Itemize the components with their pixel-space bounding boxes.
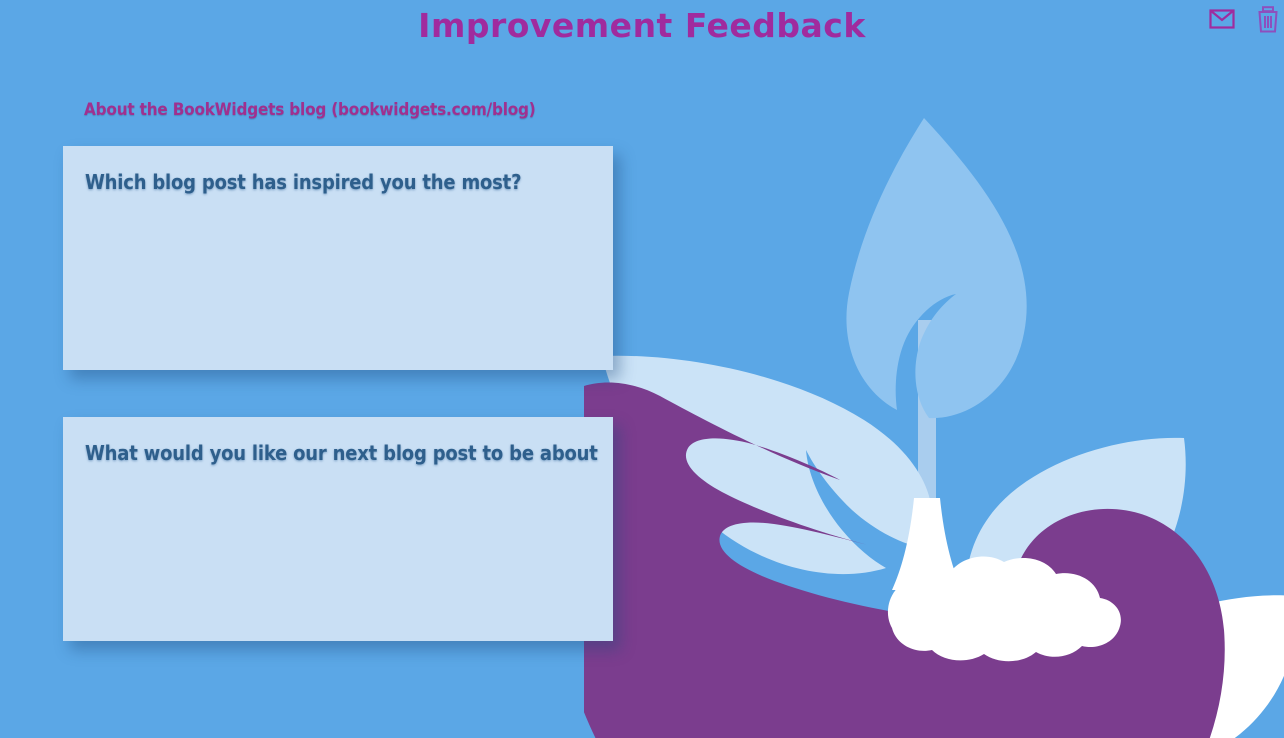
leaf-white-right [1086, 595, 1284, 738]
section-header: About the BookWidgets blog (bookwidgets.… [84, 100, 536, 120]
header-icon-bar [1208, 4, 1284, 34]
question-title: What would you like our next blog post t… [85, 441, 613, 465]
feedback-page: Improvement Feedback About the BookWidge… [0, 0, 1284, 738]
stem-base [892, 498, 962, 590]
leaf-mid-right [966, 438, 1185, 638]
trash-icon-button[interactable] [1254, 4, 1282, 34]
mail-icon-button[interactable] [1208, 4, 1236, 34]
question-card[interactable]: What would you like our next blog post t… [63, 417, 613, 641]
mail-icon [1209, 9, 1235, 29]
content-column: About the BookWidgets blog (bookwidgets.… [0, 0, 700, 738]
answer-input[interactable] [85, 200, 591, 350]
plant-stem [918, 320, 936, 598]
soil-mound [888, 556, 1121, 661]
question-card[interactable]: Which blog post has inspired you the mos… [63, 146, 613, 370]
trash-icon [1256, 6, 1280, 33]
answer-input[interactable] [85, 471, 591, 621]
question-title: Which blog post has inspired you the mos… [85, 170, 613, 194]
leaf-top [846, 118, 1026, 418]
